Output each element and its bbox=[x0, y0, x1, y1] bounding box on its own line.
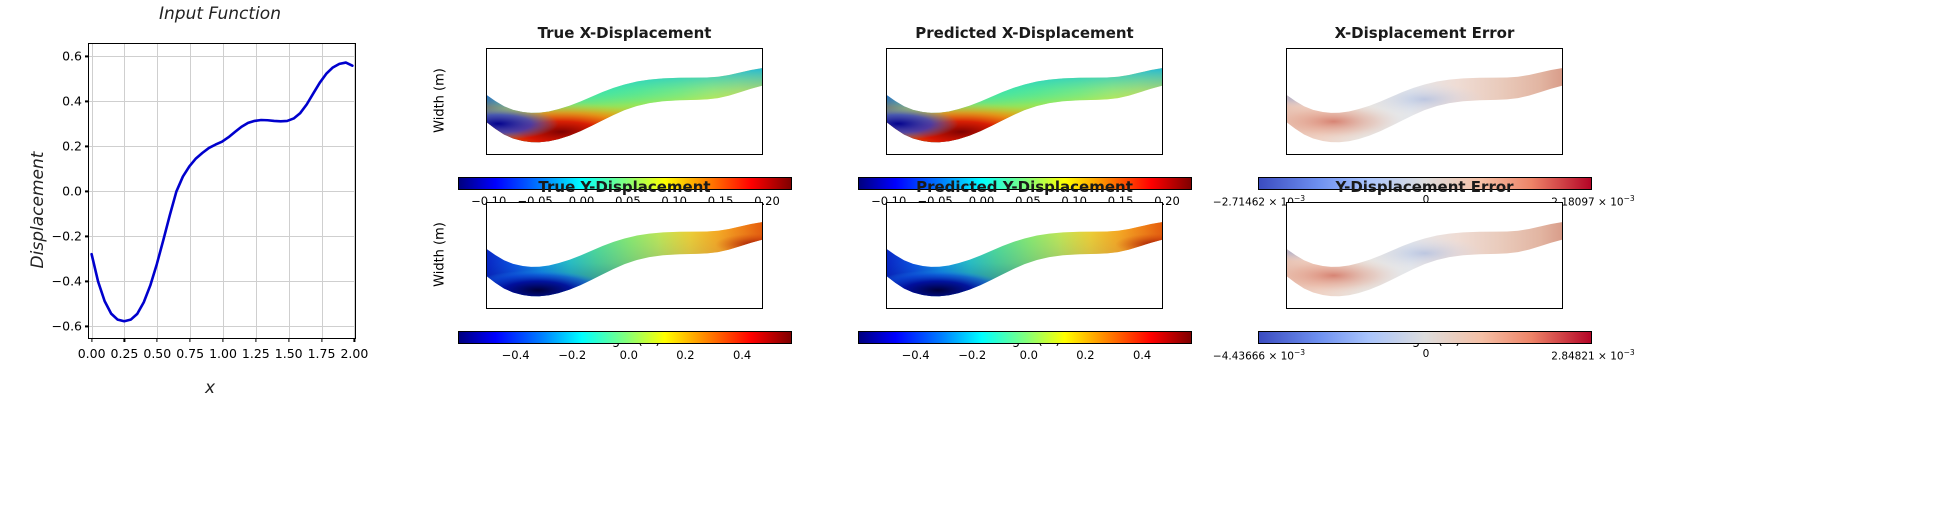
predicted-x-displacement-title: Predicted X-Displacement bbox=[886, 24, 1163, 42]
x-axis-tick-mark bbox=[1325, 154, 1326, 155]
x-axis-tick-mark bbox=[1490, 154, 1491, 155]
predicted-y-displacement-field bbox=[887, 203, 1162, 308]
y-axis-tick-mark bbox=[486, 240, 487, 241]
x-axis-tick-mark bbox=[558, 154, 559, 155]
x-axis-tick-mark bbox=[1057, 308, 1058, 309]
x-axis-tick-mark bbox=[1123, 154, 1124, 155]
y-axis-tick-label: 0.6 bbox=[36, 49, 82, 64]
y-axis-tick-mark bbox=[886, 115, 887, 116]
x-axis-tick-label: 1.75 bbox=[308, 346, 336, 361]
y-axis-tick-label: 0.4 bbox=[36, 94, 82, 109]
predicted-y-displacement-axes: 0.000.250.500.751.001.251.501.752.000.40… bbox=[886, 202, 1163, 309]
y-axis-tick-label: −0.6 bbox=[36, 319, 82, 334]
x-axis-tick-mark bbox=[991, 154, 992, 155]
colorbar-tick-label: −0.4 bbox=[902, 348, 930, 362]
x-axis-tick-label: 0.75 bbox=[176, 346, 204, 361]
x-axis-tick-mark bbox=[321, 338, 322, 342]
input-function-panel: Input Function Displacement x 0.60.40.20… bbox=[0, 0, 400, 513]
x-axis-tick-mark bbox=[1457, 154, 1458, 155]
x-axis-tick-mark bbox=[958, 308, 959, 309]
x-axis-tick-mark bbox=[1556, 308, 1557, 309]
y-axis-tick-mark bbox=[886, 86, 887, 87]
x-axis-tick-mark bbox=[525, 308, 526, 309]
x-axis-tick-mark bbox=[591, 154, 592, 155]
x-axis-tick-mark bbox=[190, 338, 191, 342]
x-axis-tick-mark bbox=[690, 154, 691, 155]
x-axis-tick-mark bbox=[1523, 154, 1524, 155]
true-y-displacement-y-axis-label: Width (m) bbox=[433, 194, 448, 314]
colorbar-tick-label: 0.2 bbox=[676, 348, 694, 362]
x-axis-tick-mark bbox=[1424, 154, 1425, 155]
colorbar-tick-label: 0.2 bbox=[1076, 348, 1094, 362]
colorbar-tick-label: −4.43666 × 10−3 bbox=[1213, 348, 1305, 363]
predicted-x-displacement-axes: 0.000.250.500.751.001.251.501.752.000.40… bbox=[886, 48, 1163, 155]
x-axis-tick-mark bbox=[892, 308, 893, 309]
y-axis-tick-mark bbox=[886, 269, 887, 270]
x-axis-tick-mark bbox=[91, 338, 92, 342]
input-function-curve bbox=[89, 44, 355, 338]
x-axis-tick-mark bbox=[1156, 154, 1157, 155]
x-axis-tick-mark bbox=[525, 154, 526, 155]
x-axis-tick-mark bbox=[1123, 308, 1124, 309]
x-axis-tick-mark bbox=[1358, 308, 1359, 309]
y-axis-tick-mark bbox=[1286, 115, 1287, 116]
y-axis-tick-mark bbox=[486, 269, 487, 270]
x-axis-tick-mark bbox=[756, 308, 757, 309]
x-axis-tick-mark bbox=[591, 308, 592, 309]
y-displacement-error-title: Y-Displacement Error bbox=[1286, 178, 1563, 196]
figure-canvas: Input Function Displacement x 0.60.40.20… bbox=[0, 0, 1945, 513]
x-axis-tick-mark bbox=[958, 154, 959, 155]
x-displacement-error-title: X-Displacement Error bbox=[1286, 24, 1563, 42]
y-axis-tick-mark bbox=[886, 240, 887, 241]
x-axis-tick-mark bbox=[1292, 154, 1293, 155]
y-axis-tick-label: 0.2 bbox=[36, 139, 82, 154]
colorbar-tick-label: −0.4 bbox=[502, 348, 530, 362]
x-axis-tick-mark bbox=[1523, 308, 1524, 309]
input-function-x-axis-label: x bbox=[60, 378, 360, 398]
x-axis-tick-label: 2.00 bbox=[340, 346, 368, 361]
x-axis-tick-mark bbox=[288, 338, 289, 342]
x-axis-tick-mark bbox=[1391, 154, 1392, 155]
x-axis-tick-mark bbox=[354, 338, 355, 342]
x-axis-tick-mark bbox=[892, 154, 893, 155]
x-axis-tick-label: 1.00 bbox=[209, 346, 237, 361]
y-axis-tick-mark bbox=[486, 86, 487, 87]
colorbar-tick-label: 0.0 bbox=[1020, 348, 1038, 362]
x-axis-tick-mark bbox=[1057, 154, 1058, 155]
true-x-displacement-field bbox=[487, 49, 762, 154]
y-axis-tick-mark bbox=[486, 144, 487, 145]
input-function-axes: 0.60.40.20.0−0.2−0.4−0.6 0.000.250.500.7… bbox=[88, 43, 356, 339]
colorbar-tick-label: 0.0 bbox=[620, 348, 638, 362]
colorbar-tick-label: 0 bbox=[1423, 348, 1430, 360]
x-displacement-error-field bbox=[1287, 49, 1562, 154]
x-axis-tick-mark bbox=[756, 154, 757, 155]
x-axis-tick-mark bbox=[1024, 308, 1025, 309]
x-axis-tick-mark bbox=[492, 154, 493, 155]
y-axis-tick-mark bbox=[886, 298, 887, 299]
x-axis-tick-mark bbox=[1424, 308, 1425, 309]
predicted-x-displacement-field bbox=[887, 49, 1162, 154]
x-axis-tick-mark bbox=[492, 308, 493, 309]
y-axis-tick-label: 0.0 bbox=[36, 184, 82, 199]
x-axis-tick-mark bbox=[657, 308, 658, 309]
x-axis-tick-mark bbox=[1556, 154, 1557, 155]
colorbar-tick-label: −0.2 bbox=[958, 348, 986, 362]
true-x-displacement-title: True X-Displacement bbox=[486, 24, 763, 42]
x-axis-tick-mark bbox=[222, 338, 223, 342]
y-axis-tick-mark bbox=[1286, 57, 1287, 58]
y-axis-tick-mark bbox=[486, 298, 487, 299]
y-axis-tick-mark bbox=[1286, 240, 1287, 241]
x-axis-tick-mark bbox=[1358, 154, 1359, 155]
y-axis-tick-mark bbox=[486, 211, 487, 212]
y-axis-tick-mark bbox=[1286, 86, 1287, 87]
x-axis-tick-label: 1.25 bbox=[242, 346, 270, 361]
x-axis-tick-mark bbox=[1457, 308, 1458, 309]
x-axis-tick-mark bbox=[1391, 308, 1392, 309]
x-axis-tick-mark bbox=[558, 308, 559, 309]
x-axis-tick-mark bbox=[723, 308, 724, 309]
y-axis-tick-mark bbox=[1286, 211, 1287, 212]
x-axis-tick-mark bbox=[690, 308, 691, 309]
x-axis-tick-mark bbox=[1090, 308, 1091, 309]
x-axis-tick-mark bbox=[657, 154, 658, 155]
x-axis-tick-mark bbox=[1490, 308, 1491, 309]
predicted-y-displacement-colorbar: −0.4−0.20.00.20.4 bbox=[858, 331, 1192, 344]
y-axis-tick-mark bbox=[486, 115, 487, 116]
true-x-displacement-axes: 0.000.250.500.751.001.251.501.752.000.40… bbox=[486, 48, 763, 155]
x-axis-tick-mark bbox=[624, 154, 625, 155]
x-axis-tick-mark bbox=[925, 154, 926, 155]
true-y-displacement-colorbar: −0.4−0.20.00.20.4 bbox=[458, 331, 792, 344]
y-displacement-error-colorbar: −4.43666 × 10−302.84821 × 10−3 bbox=[1258, 331, 1592, 344]
y-axis-tick-mark bbox=[886, 211, 887, 212]
x-axis-tick-mark bbox=[1024, 154, 1025, 155]
colorbar-tick-label: 2.84821 × 10−3 bbox=[1551, 348, 1634, 363]
y-axis-tick-mark bbox=[486, 57, 487, 58]
x-axis-tick-mark bbox=[124, 338, 125, 342]
x-displacement-error-axes: 0.000.250.500.751.001.251.501.752.000.40… bbox=[1286, 48, 1563, 155]
x-axis-tick-mark bbox=[624, 308, 625, 309]
x-axis-tick-mark bbox=[991, 308, 992, 309]
x-axis-tick-mark bbox=[255, 338, 256, 342]
y-axis-tick-mark bbox=[886, 57, 887, 58]
y-axis-tick-mark bbox=[1286, 298, 1287, 299]
colorbar-tick-label: 0.4 bbox=[1133, 348, 1151, 362]
y-axis-tick-label: −0.4 bbox=[36, 274, 82, 289]
x-axis-tick-label: 0.00 bbox=[78, 346, 106, 361]
colorbar-tick-label: 0.4 bbox=[733, 348, 751, 362]
x-axis-tick-label: 0.25 bbox=[111, 346, 139, 361]
input-function-title: Input Function bbox=[60, 4, 380, 24]
x-axis-tick-mark bbox=[1292, 308, 1293, 309]
y-displacement-error-field bbox=[1287, 203, 1562, 308]
colorbar-tick-label: −0.2 bbox=[558, 348, 586, 362]
x-axis-tick-mark bbox=[1156, 308, 1157, 309]
true-x-displacement-y-axis-label: Width (m) bbox=[433, 40, 448, 160]
x-axis-tick-label: 0.50 bbox=[143, 346, 171, 361]
true-y-displacement-field bbox=[487, 203, 762, 308]
true-y-displacement-title: True Y-Displacement bbox=[486, 178, 763, 196]
x-axis-tick-mark bbox=[1090, 154, 1091, 155]
true-y-displacement-axes: 0.000.250.500.751.001.251.501.752.000.40… bbox=[486, 202, 763, 309]
colorbar-tick-label: 2.18097 × 10−3 bbox=[1551, 194, 1634, 209]
y-axis-tick-mark bbox=[1286, 144, 1287, 145]
x-axis-tick-mark bbox=[723, 154, 724, 155]
x-axis-tick-mark bbox=[157, 338, 158, 342]
predicted-y-displacement-title: Predicted Y-Displacement bbox=[886, 178, 1163, 196]
y-displacement-error-axes: 0.000.250.500.751.001.251.501.752.000.40… bbox=[1286, 202, 1563, 309]
y-axis-tick-mark bbox=[1286, 269, 1287, 270]
y-axis-tick-mark bbox=[886, 144, 887, 145]
y-axis-tick-label: −0.2 bbox=[36, 229, 82, 244]
x-axis-tick-label: 1.50 bbox=[275, 346, 303, 361]
x-axis-tick-mark bbox=[1325, 308, 1326, 309]
x-axis-tick-mark bbox=[925, 308, 926, 309]
